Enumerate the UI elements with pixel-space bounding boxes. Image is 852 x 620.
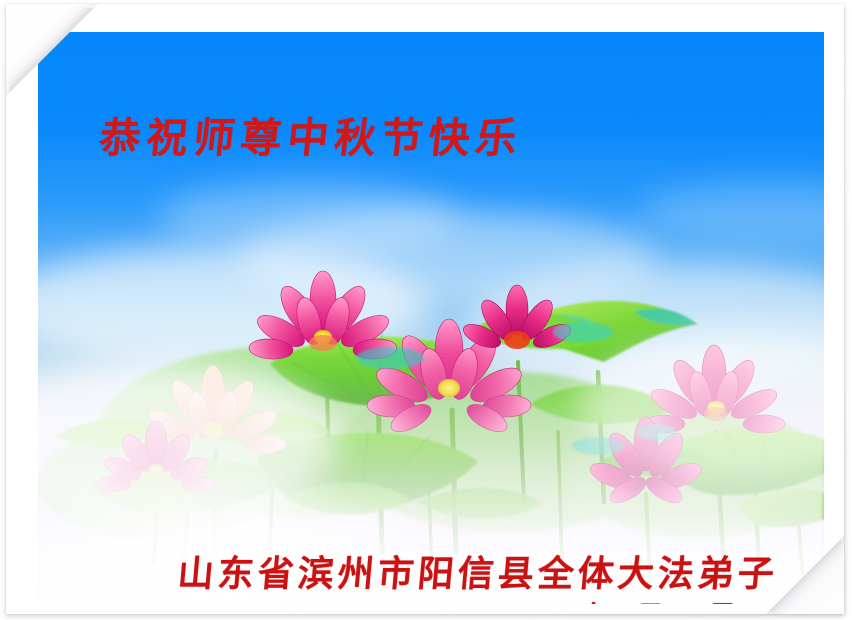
greeting-card: 恭祝师尊中秋节快乐 山东省滨州市阳信县全体大法弟子 2020年9月25号: [0, 0, 852, 620]
flower-pink-lotus-upper-left: [248, 271, 397, 361]
paper-frame: 恭祝师尊中秋节快乐 山东省滨州市阳信县全体大法弟子 2020年9月25号: [6, 4, 844, 614]
greeting-date: 2020年9月25号: [500, 594, 738, 604]
greeting-headline: 恭祝师尊中秋节快乐: [97, 104, 526, 164]
photo-area: 恭祝师尊中秋节快乐 山东省滨州市阳信县全体大法弟子 2020年9月25号: [38, 32, 824, 604]
greeting-signature: 山东省滨州市阳信县全体大法弟子: [176, 545, 781, 597]
